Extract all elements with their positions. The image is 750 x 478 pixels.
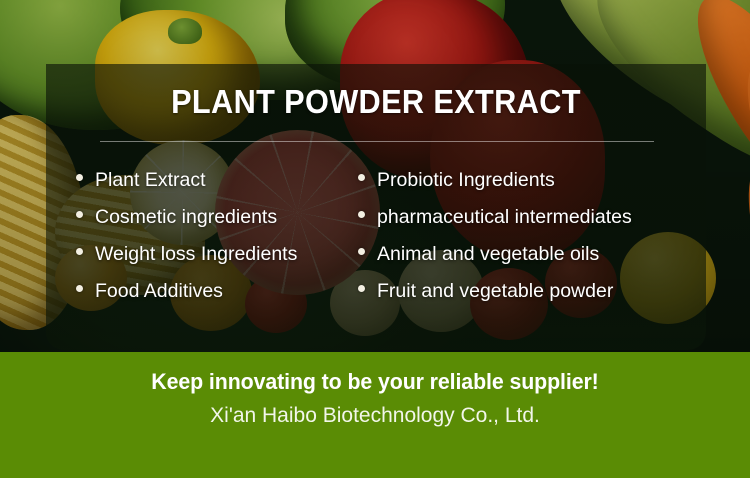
list-item[interactable]: Probiotic Ingredients: [358, 168, 706, 205]
list-item-label: Food Additives: [95, 279, 223, 303]
bullet-dot-icon: [358, 174, 365, 181]
list-item-label: Cosmetic ingredients: [95, 205, 277, 229]
footer-company-name: Xi'an Haibo Biotechnology Co., Ltd.: [0, 402, 750, 430]
plant-powder-extract-banner: PLANT POWDER EXTRACT Plant Extract Cosme…: [0, 0, 750, 478]
footer-tagline: Keep innovating to be your reliable supp…: [11, 368, 739, 396]
footer-bar: Keep innovating to be your reliable supp…: [0, 352, 750, 478]
content-panel: PLANT POWDER EXTRACT Plant Extract Cosme…: [46, 64, 706, 350]
bullet-dot-icon: [76, 211, 83, 218]
list-item-label: Animal and vegetable oils: [377, 242, 599, 266]
list-item[interactable]: pharmaceutical intermediates: [358, 205, 706, 242]
bullet-dot-icon: [358, 285, 365, 292]
list-item[interactable]: Plant Extract: [76, 168, 346, 205]
bullet-dot-icon: [76, 285, 83, 292]
list-item-label: Plant Extract: [95, 168, 206, 192]
bullet-column-right: Probiotic Ingredients pharmaceutical int…: [346, 168, 706, 316]
list-item-label: pharmaceutical intermediates: [377, 205, 632, 229]
list-item[interactable]: Weight loss Ingredients: [76, 242, 346, 279]
list-item-label: Probiotic Ingredients: [377, 168, 555, 192]
bullet-dot-icon: [76, 174, 83, 181]
bullet-dot-icon: [358, 248, 365, 255]
bullet-dot-icon: [76, 248, 83, 255]
bullet-column-left: Plant Extract Cosmetic ingredients Weigh…: [46, 168, 346, 316]
list-item-label: Fruit and vegetable powder: [377, 279, 613, 303]
page-title: PLANT POWDER EXTRACT: [69, 84, 683, 120]
list-item[interactable]: Cosmetic ingredients: [76, 205, 346, 242]
bullet-dot-icon: [358, 211, 365, 218]
list-item-label: Weight loss Ingredients: [95, 242, 297, 266]
list-item[interactable]: Animal and vegetable oils: [358, 242, 706, 279]
list-item[interactable]: Food Additives: [76, 279, 346, 316]
title-divider: [100, 141, 654, 142]
list-item[interactable]: Fruit and vegetable powder: [358, 279, 706, 316]
bullet-columns: Plant Extract Cosmetic ingredients Weigh…: [46, 168, 706, 316]
